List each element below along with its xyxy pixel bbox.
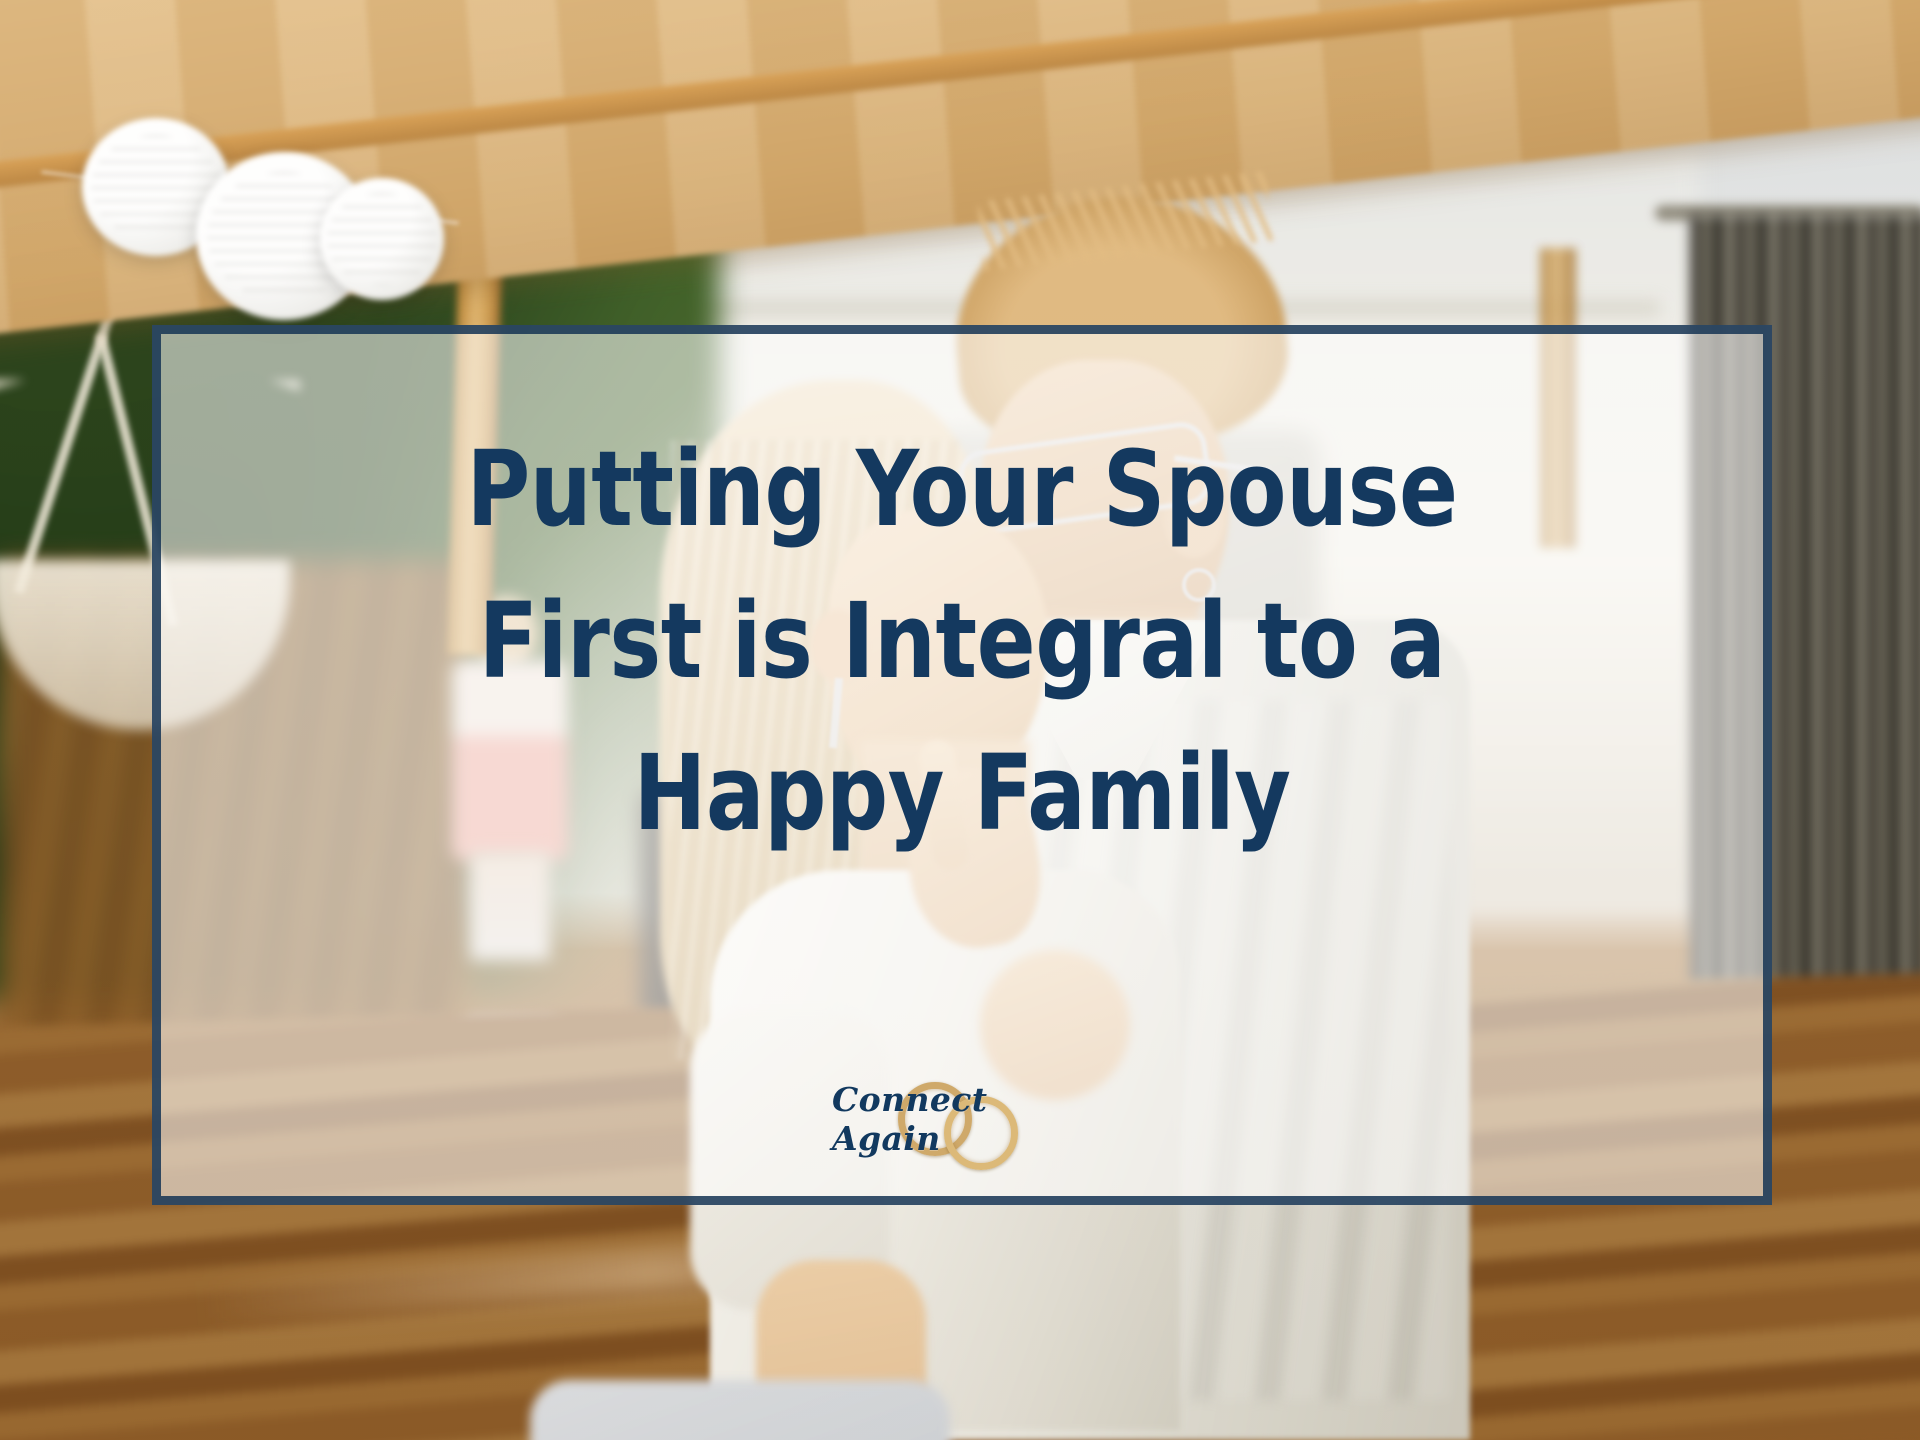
connect-again-logo[interactable]: Connect Again — [832, 1076, 1092, 1162]
title-overlay-frame: Putting Your Spouse First is Integral to… — [152, 325, 1772, 1205]
logo-wordmark: Connect Again — [832, 1076, 1092, 1162]
paper-lantern — [320, 178, 444, 300]
woman-jeans — [530, 1380, 950, 1440]
page-title: Putting Your Spouse First is Integral to… — [217, 414, 1707, 869]
title-line-3: Happy Family — [217, 718, 1707, 870]
title-line-2: First is Integral to a — [217, 566, 1707, 718]
title-line-1: Putting Your Spouse — [217, 414, 1707, 566]
